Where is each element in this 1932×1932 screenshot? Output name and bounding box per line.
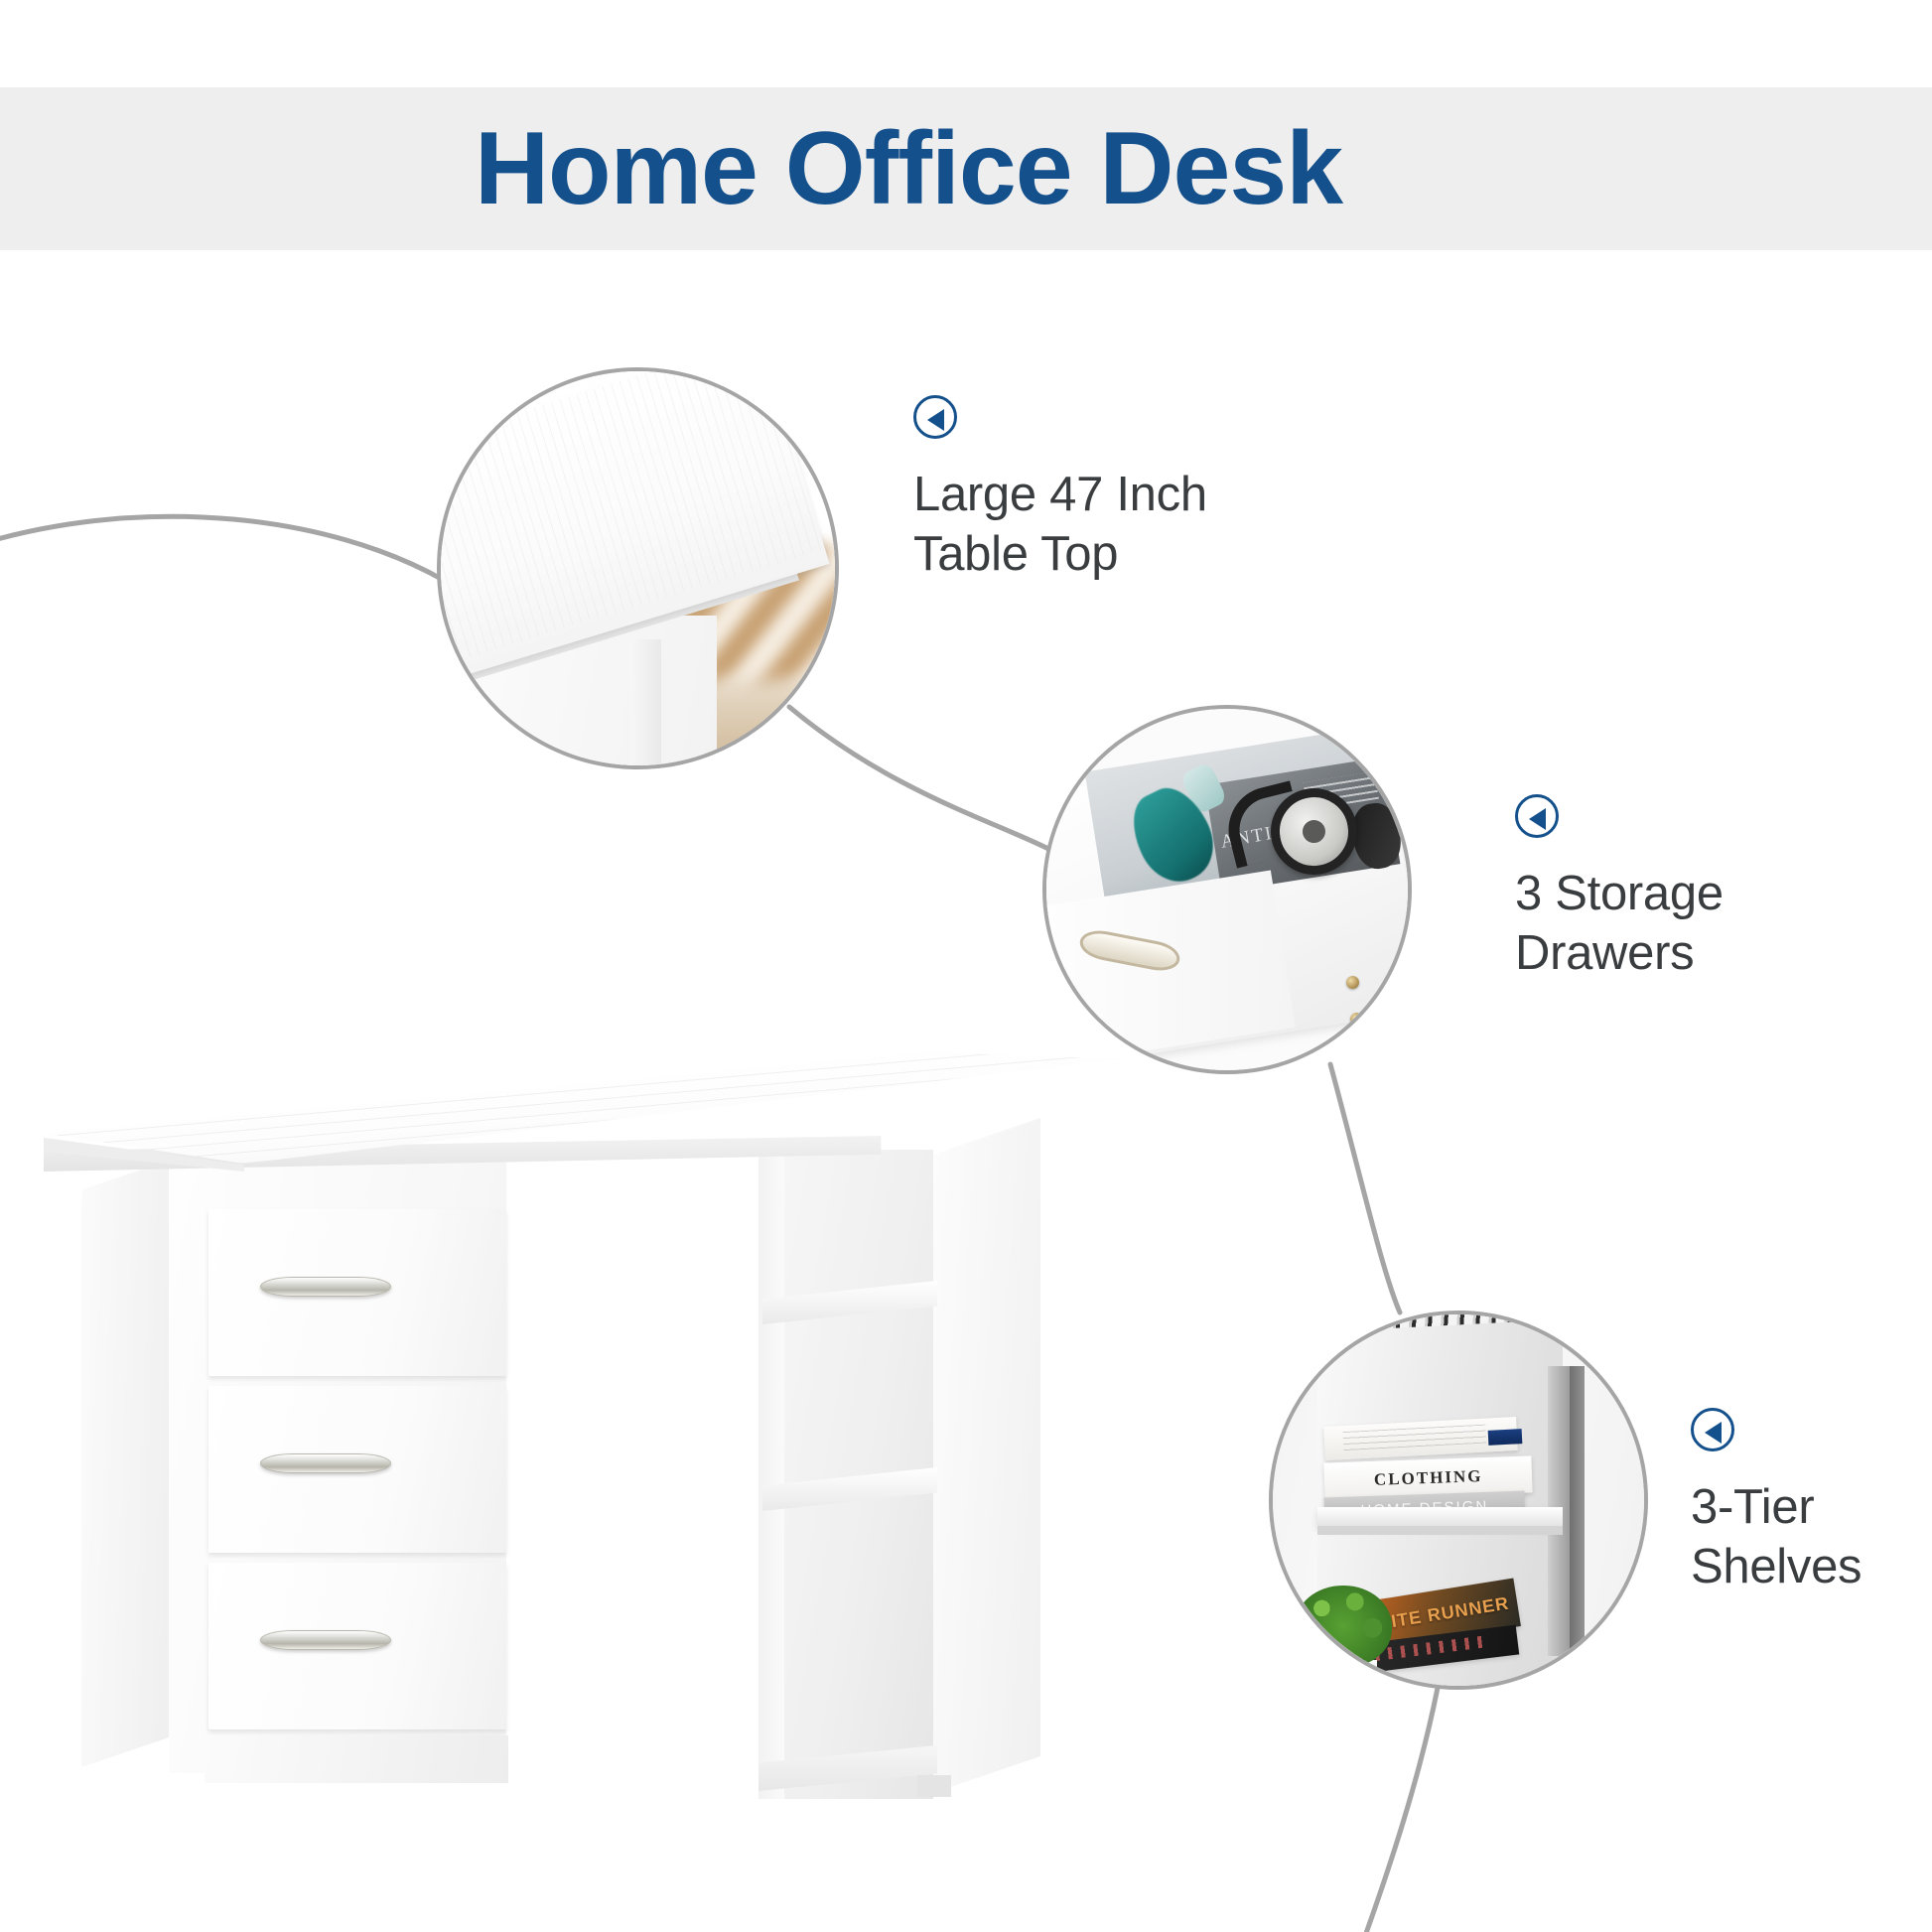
- desk-pedestal-plinth: [205, 1735, 508, 1783]
- connector-line-shelves-downward: [1365, 1688, 1438, 1932]
- inset-image-tabletop: [437, 367, 839, 769]
- book-title-clothing: CLOTHING: [1374, 1466, 1483, 1490]
- circled-left-arrow-icon: [1515, 794, 1559, 838]
- callout-tabletop: Large 47 Inch Table Top: [913, 395, 1207, 584]
- inset-shelf-plant: [1295, 1586, 1391, 1667]
- desk-drawer: [208, 1563, 506, 1729]
- connector-line-drawers-to-shelves: [1330, 1064, 1400, 1312]
- product-image-desk: [38, 1011, 1150, 1785]
- infographic-canvas: Home Office Desk: [0, 0, 1932, 1932]
- header-band: Home Office Desk: [0, 87, 1932, 250]
- connector-line-left-entry: [0, 516, 445, 581]
- callout-shelves-label: 3-Tier Shelves: [1691, 1477, 1862, 1596]
- callout-shelves: 3-Tier Shelves: [1691, 1408, 1862, 1596]
- inset-shelf-board: [1317, 1507, 1563, 1526]
- desk-drawer: [208, 1209, 506, 1376]
- circled-left-arrow-icon: [1691, 1408, 1734, 1451]
- desk-pedestal-side-panel: [81, 1160, 171, 1767]
- callout-drawers: 3 Storage Drawers: [1515, 794, 1724, 983]
- inset-drawer-screw: [1350, 1013, 1363, 1026]
- desk-shelf-outer-panel: [921, 1118, 1040, 1797]
- circled-left-arrow-icon: [913, 395, 957, 439]
- desk-drawer-handle: [260, 1630, 391, 1650]
- desk-drawer: [208, 1386, 506, 1553]
- callout-tabletop-label: Large 47 Inch Table Top: [913, 465, 1207, 584]
- callout-drawers-label: 3 Storage Drawers: [1515, 864, 1724, 983]
- inset-shelf-book-blue: [1488, 1429, 1522, 1446]
- inset-image-shelves: CLOTHING HOME DESIGN KITE RUNNER: [1269, 1311, 1648, 1690]
- page-title: Home Office Desk: [0, 87, 1817, 250]
- desk-drawer-handle: [260, 1453, 391, 1473]
- desk-drawer-handle: [260, 1277, 391, 1297]
